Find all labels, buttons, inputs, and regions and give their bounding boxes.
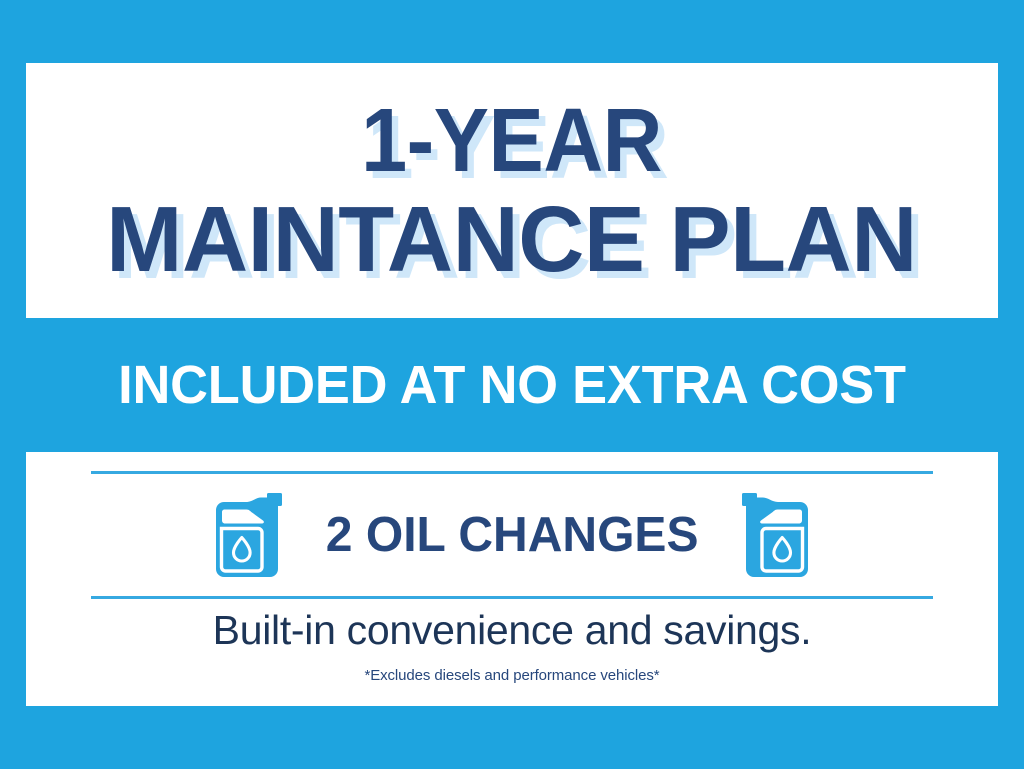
headline-line-2: MAINTANCE PLAN	[107, 197, 918, 283]
subtitle-banner: INCLUDED AT NO EXTRA COST	[15, 330, 1008, 440]
headline-block: 1-YEAR MAINTANCE PLAN	[26, 63, 998, 318]
offer-card: 2 OIL CHANGES Built-in convenience and s…	[26, 452, 998, 706]
promo-poster: 1-YEAR MAINTANCE PLAN INCLUDED AT NO EXT…	[0, 0, 1024, 769]
oil-changes-row: 2 OIL CHANGES	[26, 474, 998, 596]
offer-fineprint: *Excludes diesels and performance vehicl…	[26, 667, 998, 684]
headline-card: 1-YEAR MAINTANCE PLAN	[26, 63, 998, 318]
oil-jug-icon	[740, 493, 812, 577]
offer-label: 2 OIL CHANGES	[326, 507, 699, 563]
offer-tagline: Built-in convenience and savings.	[26, 607, 998, 654]
oil-jug-icon	[212, 493, 284, 577]
divider-bottom	[91, 596, 933, 599]
headline-line-1: 1-YEAR	[362, 100, 663, 183]
